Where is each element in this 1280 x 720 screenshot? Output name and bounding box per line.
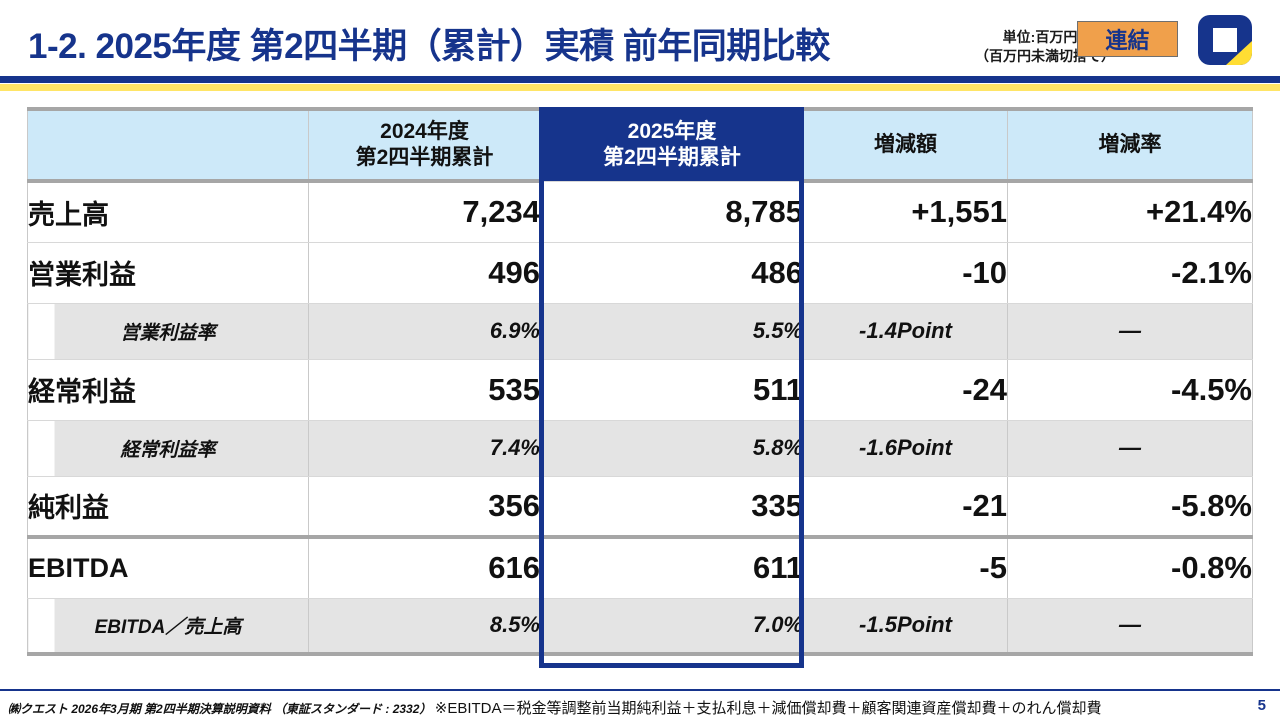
column-header-current-year-line2: 第2四半期累計 <box>541 145 803 171</box>
table-row: 営業利益496486-10-2.1% <box>28 242 1253 303</box>
page-number: 5 <box>1258 697 1266 714</box>
column-header-current-year: 2025年度 第2四半期累計 <box>541 109 804 181</box>
footer-source: ㈱クエスト 2026年3月期 第2四半期決算説明資料 （東証スタンダード : 2… <box>8 702 431 716</box>
table-row: EBITDA616611-5-0.8% <box>28 537 1253 598</box>
cell-change-rate: -2.1% <box>1008 242 1253 303</box>
financial-comparison-table: 2024年度 第2四半期累計 2025年度 第2四半期累計 増減額 増減率 売上… <box>27 107 1253 656</box>
slide-header: 1-2. 2025年度 第2四半期（累計）実積 前年同期比較 単位:百万円 （百… <box>0 0 1280 80</box>
footer-text: ㈱クエスト 2026年3月期 第2四半期決算説明資料 （東証スタンダード : 2… <box>8 697 1102 718</box>
table-row: 純利益356335-21-5.8% <box>28 476 1253 537</box>
cell-prev-year: 7,234 <box>309 181 541 242</box>
cell-current-year: 335 <box>541 476 804 537</box>
row-label: 経常利益率 <box>28 420 309 476</box>
cell-change-amount: -5 <box>804 537 1008 598</box>
cell-change-rate: -4.5% <box>1008 359 1253 420</box>
cell-current-year: 7.0% <box>541 598 804 654</box>
cell-change-rate: — <box>1008 598 1253 654</box>
table-body: 売上高7,2348,785+1,551+21.4%営業利益496486-10-2… <box>28 181 1253 654</box>
page-title: 1-2. 2025年度 第2四半期（累計）実積 前年同期比較 <box>28 18 830 69</box>
cell-current-year: 5.5% <box>541 303 804 359</box>
row-label: 経常利益 <box>28 359 309 420</box>
header-rule-navy <box>0 76 1280 83</box>
cell-change-amount: +1,551 <box>804 181 1008 242</box>
column-header-label <box>28 109 309 181</box>
row-label: 営業利益率 <box>28 303 309 359</box>
table-row: EBITDA／売上高8.5%7.0%-1.5Point— <box>28 598 1253 654</box>
quest-logo <box>1196 13 1254 67</box>
cell-prev-year: 535 <box>309 359 541 420</box>
consolidated-badge: 連結 <box>1077 21 1178 57</box>
cell-change-amount: -10 <box>804 242 1008 303</box>
column-header-change-amount: 増減額 <box>804 109 1008 181</box>
cell-prev-year: 8.5% <box>309 598 541 654</box>
row-label: 営業利益 <box>28 242 309 303</box>
cell-change-amount: -1.6Point <box>804 420 1008 476</box>
table-row: 経常利益535511-24-4.5% <box>28 359 1253 420</box>
cell-prev-year: 356 <box>309 476 541 537</box>
row-label: 純利益 <box>28 476 309 537</box>
column-header-prev-year-line2: 第2四半期累計 <box>309 145 540 171</box>
row-label: 売上高 <box>28 181 309 242</box>
cell-prev-year: 6.9% <box>309 303 541 359</box>
cell-change-rate: +21.4% <box>1008 181 1253 242</box>
cell-change-amount: -1.4Point <box>804 303 1008 359</box>
cell-change-rate: -5.8% <box>1008 476 1253 537</box>
cell-current-year: 611 <box>541 537 804 598</box>
cell-prev-year: 496 <box>309 242 541 303</box>
header-rule-yellow <box>0 84 1280 91</box>
consolidated-badge-label: 連結 <box>1105 23 1149 55</box>
footer-note: ※EBITDA＝税金等調整前当期純利益＋支払利息＋減価償却費＋顧客関連資産償却費… <box>435 700 1102 717</box>
cell-change-rate: — <box>1008 303 1253 359</box>
slide-footer: ㈱クエスト 2026年3月期 第2四半期決算説明資料 （東証スタンダード : 2… <box>0 689 1280 720</box>
cell-current-year: 486 <box>541 242 804 303</box>
column-header-prev-year-line1: 2024年度 <box>309 119 540 145</box>
cell-current-year: 8,785 <box>541 181 804 242</box>
column-header-prev-year: 2024年度 第2四半期累計 <box>309 109 541 181</box>
table-row: 売上高7,2348,785+1,551+21.4% <box>28 181 1253 242</box>
table-row: 営業利益率6.9%5.5%-1.4Point— <box>28 303 1253 359</box>
row-label: EBITDA／売上高 <box>28 598 309 654</box>
table-row: 経常利益率7.4%5.8%-1.6Point— <box>28 420 1253 476</box>
cell-change-amount: -24 <box>804 359 1008 420</box>
cell-change-rate: -0.8% <box>1008 537 1253 598</box>
column-header-change-rate: 増減率 <box>1008 109 1253 181</box>
table-header-row: 2024年度 第2四半期累計 2025年度 第2四半期累計 増減額 増減率 <box>28 109 1253 181</box>
column-header-current-year-line1: 2025年度 <box>541 119 803 145</box>
cell-current-year: 511 <box>541 359 804 420</box>
cell-change-rate: — <box>1008 420 1253 476</box>
cell-prev-year: 616 <box>309 537 541 598</box>
cell-prev-year: 7.4% <box>309 420 541 476</box>
cell-change-amount: -1.5Point <box>804 598 1008 654</box>
row-label: EBITDA <box>28 537 309 598</box>
cell-change-amount: -21 <box>804 476 1008 537</box>
cell-current-year: 5.8% <box>541 420 804 476</box>
